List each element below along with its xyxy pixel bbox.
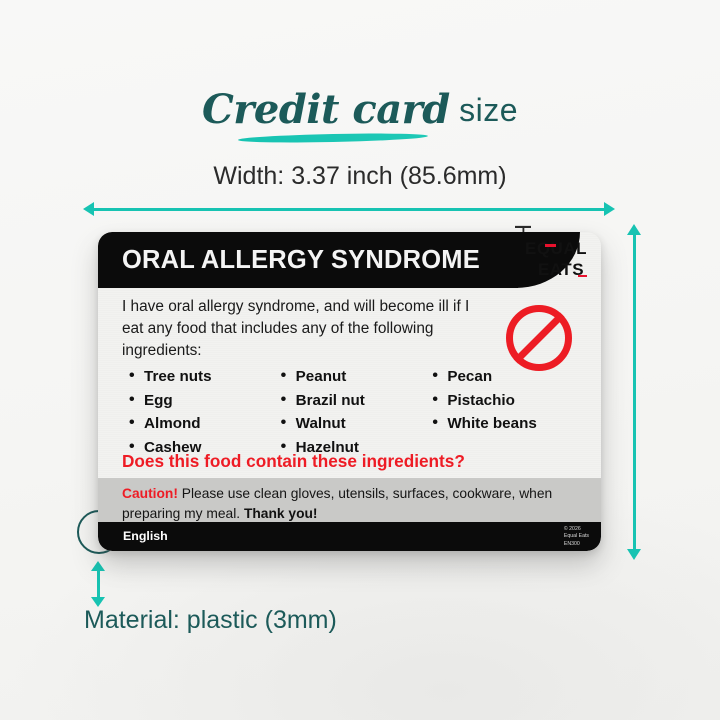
- list-item: Walnut: [280, 412, 432, 436]
- material-label: Material: plastic (3mm): [84, 606, 337, 635]
- list-item: Egg: [128, 389, 280, 413]
- ingredient-column-2: Peanut Brazil nut Walnut Hazelnut: [280, 365, 432, 459]
- ingredient-columns: Tree nuts Egg Almond Cashew Peanut Brazi…: [128, 365, 583, 459]
- language-label: English: [123, 529, 168, 543]
- card-header: ORAL ALLERGY SYNDROME EQUAL EATS: [98, 232, 601, 288]
- arrow-head-up-icon: [91, 561, 105, 571]
- arrow-head-left-icon: [83, 202, 94, 216]
- ingredient-column-3: Pecan Pistachio White beans: [431, 365, 583, 459]
- copyright-line-1: © 2026: [564, 526, 581, 532]
- height-dimension-arrow: [633, 234, 636, 550]
- logo-line-1: EQUAL: [525, 240, 587, 257]
- list-item: Brazil nut: [280, 389, 432, 413]
- card-footer: English © 2026 Equal Eats EN300: [98, 522, 601, 551]
- no-entry-icon: [506, 305, 572, 371]
- card-title: ORAL ALLERGY SYNDROME: [122, 232, 480, 288]
- caution-prefix: Caution!: [122, 486, 178, 501]
- list-item: Peanut: [280, 365, 432, 389]
- card-question: Does this food contain these ingredients…: [122, 451, 465, 472]
- copyright-line-2: Equal Eats: [564, 533, 589, 539]
- width-dimension-label: Width: 3.37 inch (85.6mm): [0, 162, 720, 191]
- caution-thanks: Thank you!: [244, 506, 318, 521]
- thickness-dimension-arrow: [97, 570, 100, 598]
- list-item: Pecan: [431, 365, 583, 389]
- width-dimension-arrow: [93, 208, 605, 211]
- caution-band: Caution! Please use clean gloves, utensi…: [98, 478, 601, 522]
- arrow-head-right-icon: [604, 202, 615, 216]
- title-underline-swoosh: [238, 132, 428, 144]
- caution-body: Please use clean gloves, utensils, surfa…: [122, 486, 552, 521]
- page-title-script: Credit card: [202, 86, 450, 133]
- list-item: Pistachio: [431, 389, 583, 413]
- arrow-head-down-icon: [627, 549, 641, 560]
- equal-eats-logo: EQUAL EATS: [525, 240, 587, 279]
- list-item: Tree nuts: [128, 365, 280, 389]
- logo-line-2: EATS: [528, 261, 584, 278]
- copyright-line-3: EN300: [564, 541, 580, 547]
- ingredient-column-1: Tree nuts Egg Almond Cashew: [128, 365, 280, 459]
- card-intro-text: I have oral allergy syndrome, and will b…: [122, 296, 492, 362]
- page-title: Credit card size: [0, 84, 720, 131]
- logo-t-crossbar-icon: [545, 244, 556, 247]
- list-item: Almond: [128, 412, 280, 436]
- list-item: White beans: [431, 412, 583, 436]
- arrow-head-up-icon: [627, 224, 641, 235]
- copyright-block: © 2026 Equal Eats EN300: [564, 526, 589, 549]
- page-title-plain: size: [450, 92, 518, 128]
- page-root: Credit card size Width: 3.37 inch (85.6m…: [0, 0, 720, 720]
- allergy-card[interactable]: ORAL ALLERGY SYNDROME EQUAL EATS I have …: [98, 232, 601, 551]
